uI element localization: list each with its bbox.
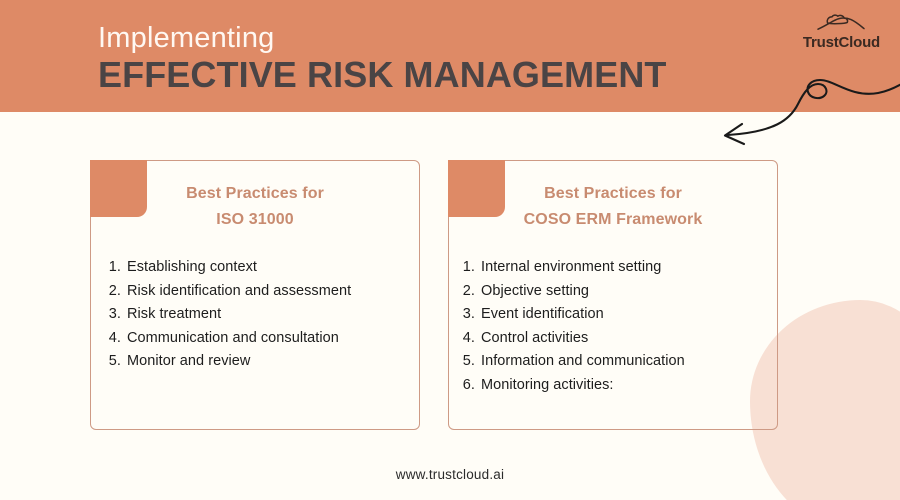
page-title-subtitle: Implementing (98, 22, 667, 55)
list-item: Control activities (479, 327, 777, 350)
page-title: EFFECTIVE RISK MANAGEMENT (98, 55, 667, 95)
header-text-group: Implementing EFFECTIVE RISK MANAGEMENT (98, 22, 667, 96)
cloud-icon (814, 14, 868, 36)
card-corner-accent (90, 160, 147, 217)
card-title-line1: Best Practices for (544, 185, 682, 202)
list-item: Internal environment setting (479, 256, 777, 279)
trustcloud-logo[interactable]: TrustCloud (803, 14, 880, 50)
card-title-line1: Best Practices for (186, 185, 324, 202)
footer-url[interactable]: www.trustcloud.ai (0, 467, 900, 482)
list-item: Information and communication (479, 350, 777, 373)
list-item: Risk treatment (125, 303, 419, 326)
card-coso-erm: Best Practices for COSO ERM Framework In… (448, 160, 778, 430)
list-item: Event identification (479, 303, 777, 326)
card-corner-accent (448, 160, 505, 217)
list-item: Risk identification and assessment (125, 280, 419, 303)
list-item: Establishing context (125, 256, 419, 279)
list-item: Objective setting (479, 280, 777, 303)
logo-wordmark: TrustCloud (803, 35, 880, 50)
list-item: Monitor and review (125, 350, 419, 373)
poster-canvas: Implementing EFFECTIVE RISK MANAGEMENT T… (0, 0, 900, 500)
list-item: Communication and consultation (125, 327, 419, 350)
best-practices-list: Establishing context Risk identification… (91, 256, 419, 373)
best-practices-list: Internal environment setting Objective s… (449, 256, 777, 397)
header-band: Implementing EFFECTIVE RISK MANAGEMENT (0, 0, 900, 112)
card-iso-31000: Best Practices for ISO 31000 Establishin… (90, 160, 420, 430)
list-item: Monitoring activities: (479, 374, 777, 397)
